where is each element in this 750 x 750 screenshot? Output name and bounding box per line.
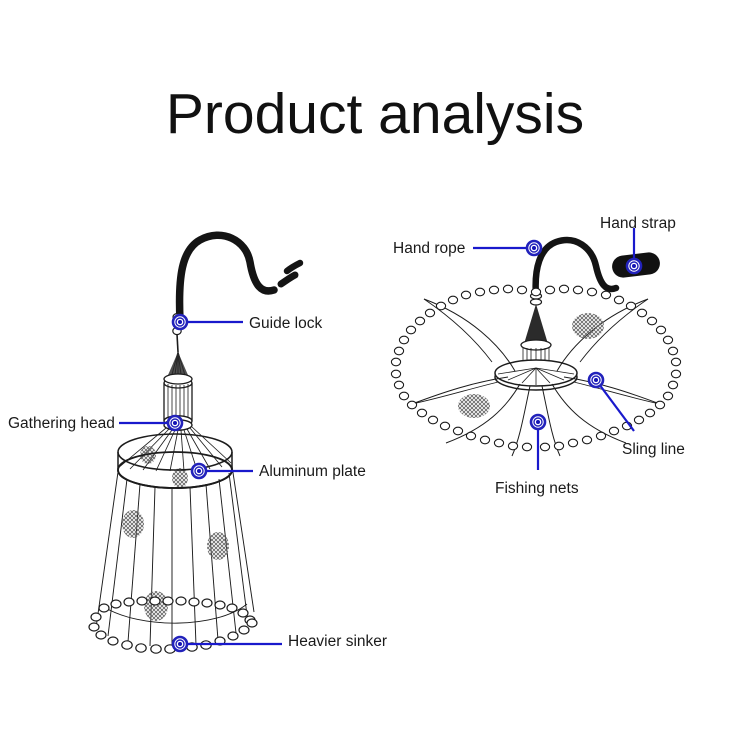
callout-label-hand-strap: Hand strap	[600, 216, 676, 232]
marker-core-heavier-sinker	[178, 642, 182, 646]
callout-label-fishing-nets: Fishing nets	[495, 481, 579, 497]
callout-hand-strap	[627, 228, 641, 273]
callout-guide-lock	[173, 315, 243, 329]
callout-gathering-head	[119, 416, 182, 430]
marker-core-gathering-head	[173, 421, 177, 425]
callout-sling-line	[589, 373, 634, 431]
leader-line-sling-line	[596, 380, 634, 431]
callout-label-gathering-head: Gathering head	[8, 416, 115, 432]
callout-label-heavier-sinker: Heavier sinker	[288, 634, 387, 650]
net-body-left	[96, 466, 254, 647]
marker-core-hand-rope	[532, 246, 536, 250]
callout-hand-rope	[473, 241, 541, 255]
marker-core-aluminum-plate	[197, 469, 201, 473]
callout-fishing-nets	[531, 415, 545, 470]
marker-core-sling-line	[594, 378, 598, 382]
product-analysis-page: Product analysis	[0, 0, 750, 750]
callout-label-hand-rope: Hand rope	[393, 241, 465, 257]
center-hub-right	[495, 293, 577, 390]
callout-label-sling-line: Sling line	[622, 442, 685, 458]
callout-label-guide-lock: Guide lock	[249, 316, 322, 332]
aluminum-plate	[118, 434, 232, 488]
marker-core-guide-lock	[178, 320, 182, 324]
marker-core-fishing-nets	[536, 420, 540, 424]
marker-core-hand-strap	[632, 264, 636, 268]
callout-label-aluminum-plate: Aluminum plate	[259, 464, 366, 480]
left-diagram-closed-net	[89, 235, 300, 653]
hand-rope-left	[180, 235, 300, 320]
